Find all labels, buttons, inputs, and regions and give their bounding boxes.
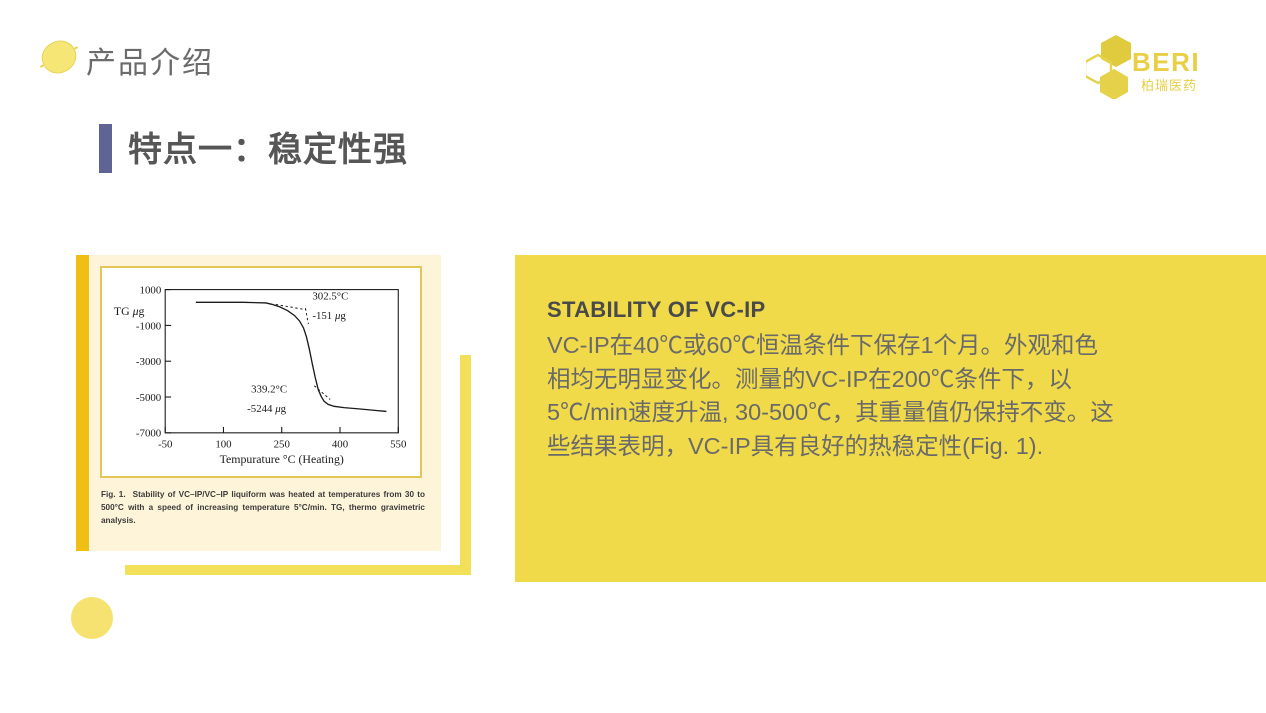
brand-logo: BERI 柏瑞医药 bbox=[1086, 33, 1218, 99]
svg-text:BERI: BERI bbox=[1132, 47, 1200, 77]
page-kicker: 产品介绍 bbox=[86, 38, 214, 82]
ytick--3000: -3000 bbox=[136, 356, 161, 368]
x-axis-label: Tempurature °C (Heating) bbox=[220, 452, 344, 466]
figure-card: 1000 -1000 -3000 -5000 -7000 -50 100 250… bbox=[76, 255, 441, 551]
stability-panel: STABILITY OF VC-IP VC-IP在40℃或60℃恒温条件下保存1… bbox=[515, 255, 1266, 582]
figure-card-edge bbox=[76, 255, 89, 551]
xtick-400: 400 bbox=[332, 439, 348, 451]
xtick--50: -50 bbox=[158, 439, 172, 451]
figure-caption: Fig. 1.Stability of VC–IP/VC–IP liquifor… bbox=[101, 488, 425, 528]
figure-caption-lead: Fig. 1. bbox=[101, 490, 126, 499]
svg-text:柏瑞医药: 柏瑞医药 bbox=[1141, 79, 1197, 94]
ytick--1000: -1000 bbox=[136, 320, 161, 332]
l-frame-horizontal bbox=[125, 565, 471, 575]
y-axis-label: TG μg bbox=[114, 304, 145, 318]
page-title: 特点一：稳定性强 bbox=[128, 122, 408, 171]
annotation--5244ug: -5244 μg bbox=[247, 403, 287, 415]
annotation-339.2c: 339.2°C bbox=[251, 384, 287, 396]
panel-body: VC-IP在40℃或60℃恒温条件下保存1个月。外观和色相均无明显变化。测量的V… bbox=[547, 329, 1115, 463]
ytick--5000: -5000 bbox=[136, 392, 161, 404]
xtick-100: 100 bbox=[215, 439, 231, 451]
heading-accent-bar bbox=[99, 124, 112, 173]
hexagon-marks bbox=[1086, 35, 1131, 99]
ytick-1000: 1000 bbox=[140, 285, 162, 297]
panel-title: STABILITY OF VC-IP bbox=[547, 297, 765, 323]
annotation--151ug: -151 μg bbox=[312, 310, 346, 322]
xtick-550: 550 bbox=[390, 439, 406, 451]
figure-image: 1000 -1000 -3000 -5000 -7000 -50 100 250… bbox=[100, 266, 422, 478]
slide-root: 产品介绍 BERI 柏瑞医药 特点一：稳定性强 bbox=[0, 0, 1266, 713]
decorative-dot bbox=[71, 597, 113, 639]
tg-chart: 1000 -1000 -3000 -5000 -7000 -50 100 250… bbox=[102, 268, 420, 476]
l-frame-vertical bbox=[460, 355, 471, 575]
figure-caption-text: Stability of VC–IP/VC–IP liquiform was h… bbox=[101, 490, 425, 525]
lemon-icon bbox=[38, 36, 80, 78]
annotation-302.5c: 302.5°C bbox=[312, 290, 348, 302]
xtick-250: 250 bbox=[274, 439, 290, 451]
